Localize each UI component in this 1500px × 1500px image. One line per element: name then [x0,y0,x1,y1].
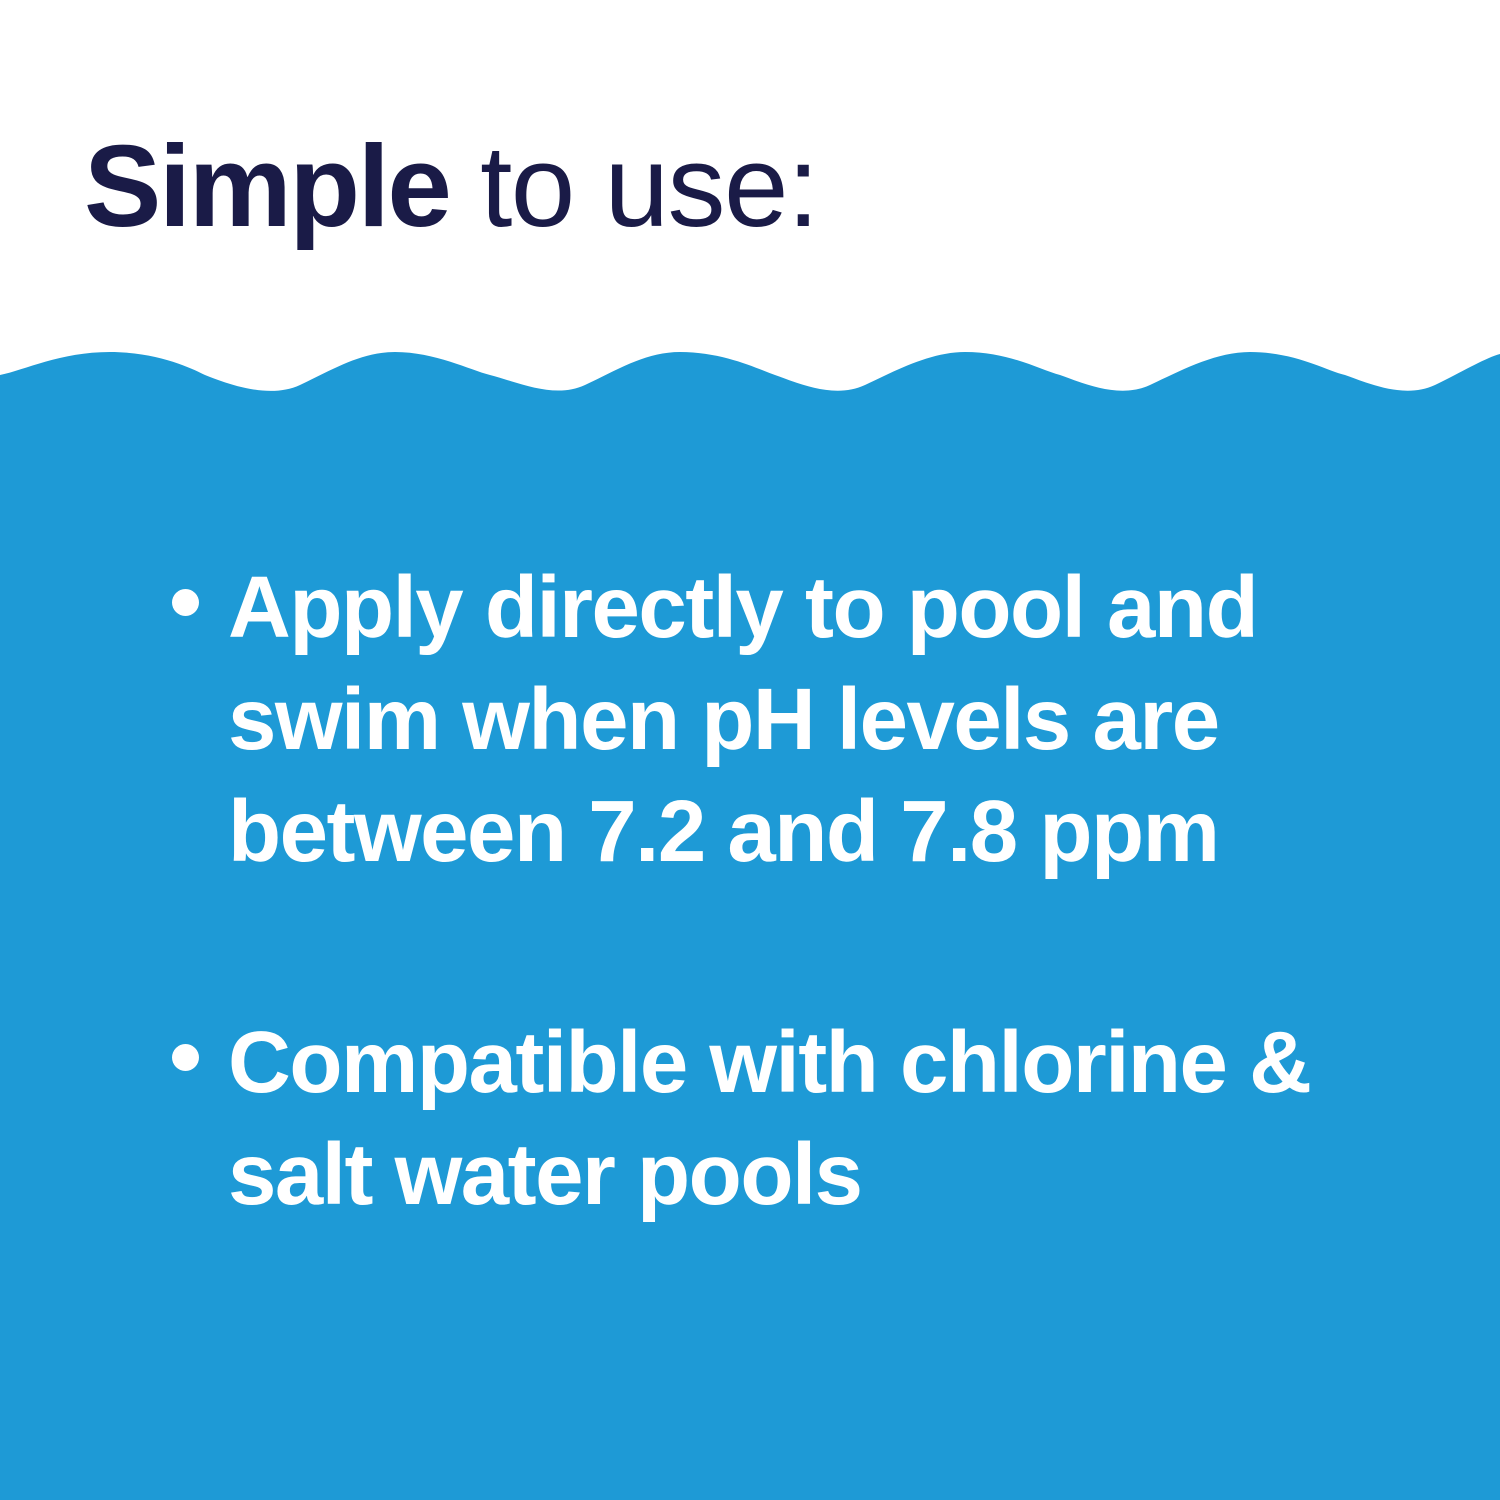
promo-panel: Simple to use: Apply directly to pool an… [0,0,1500,1500]
bullet-dot-icon [172,1044,199,1071]
page-title: Simple to use: [84,128,818,244]
list-item: Apply directly to pool and swim when pH … [168,552,1428,888]
bullet-dot-icon [172,589,199,616]
page-title-remainder: to use: [449,121,817,251]
list-item-label: Compatible with chlorine & salt water po… [168,1007,1428,1231]
feature-list: Apply directly to pool and swim when pH … [0,352,1500,1500]
page-title-emphasis: Simple [84,121,449,251]
list-item: Compatible with chlorine & salt water po… [168,1007,1428,1231]
header-band: Simple to use: [0,0,1500,376]
list-item-label: Apply directly to pool and swim when pH … [168,552,1428,888]
water-section: Apply directly to pool and swim when pH … [0,352,1500,1500]
